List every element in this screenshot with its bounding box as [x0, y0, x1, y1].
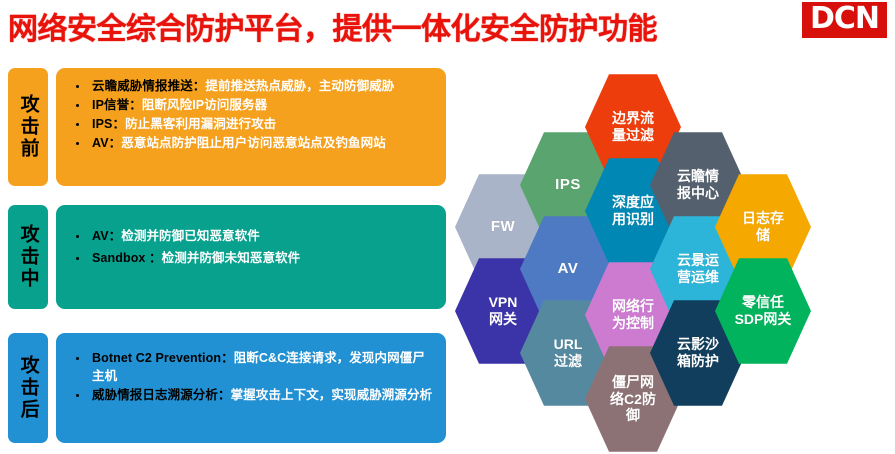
hex-cell-label: 日志存储	[728, 210, 798, 244]
hex-cell-label: 网络行为控制	[598, 298, 668, 332]
hex-cell-label: 云景运营运维	[663, 252, 733, 286]
hex-cell-label: URL过滤	[540, 336, 597, 370]
hex-cell-label: 僵尸网络C2防御	[596, 374, 670, 424]
hex-cell-label: 边界流量过滤	[598, 110, 668, 144]
hex-cell-label: VPN网关	[475, 294, 532, 328]
security-capability-hex-cluster: FWVPN网关IPSAVURL过滤边界流量过滤深度应用识别网络行为控制僵尸网络C…	[0, 0, 895, 452]
hex-cell-label: 云瞻情报中心	[663, 168, 733, 202]
hex-cell-label: 零信任SDP网关	[721, 294, 806, 328]
hex-cell-label: 云影沙箱防护	[663, 336, 733, 370]
hex-cell-label: IPS	[541, 176, 595, 194]
hex-cell-label: AV	[544, 260, 593, 278]
hex-cell-label: FW	[477, 218, 529, 236]
